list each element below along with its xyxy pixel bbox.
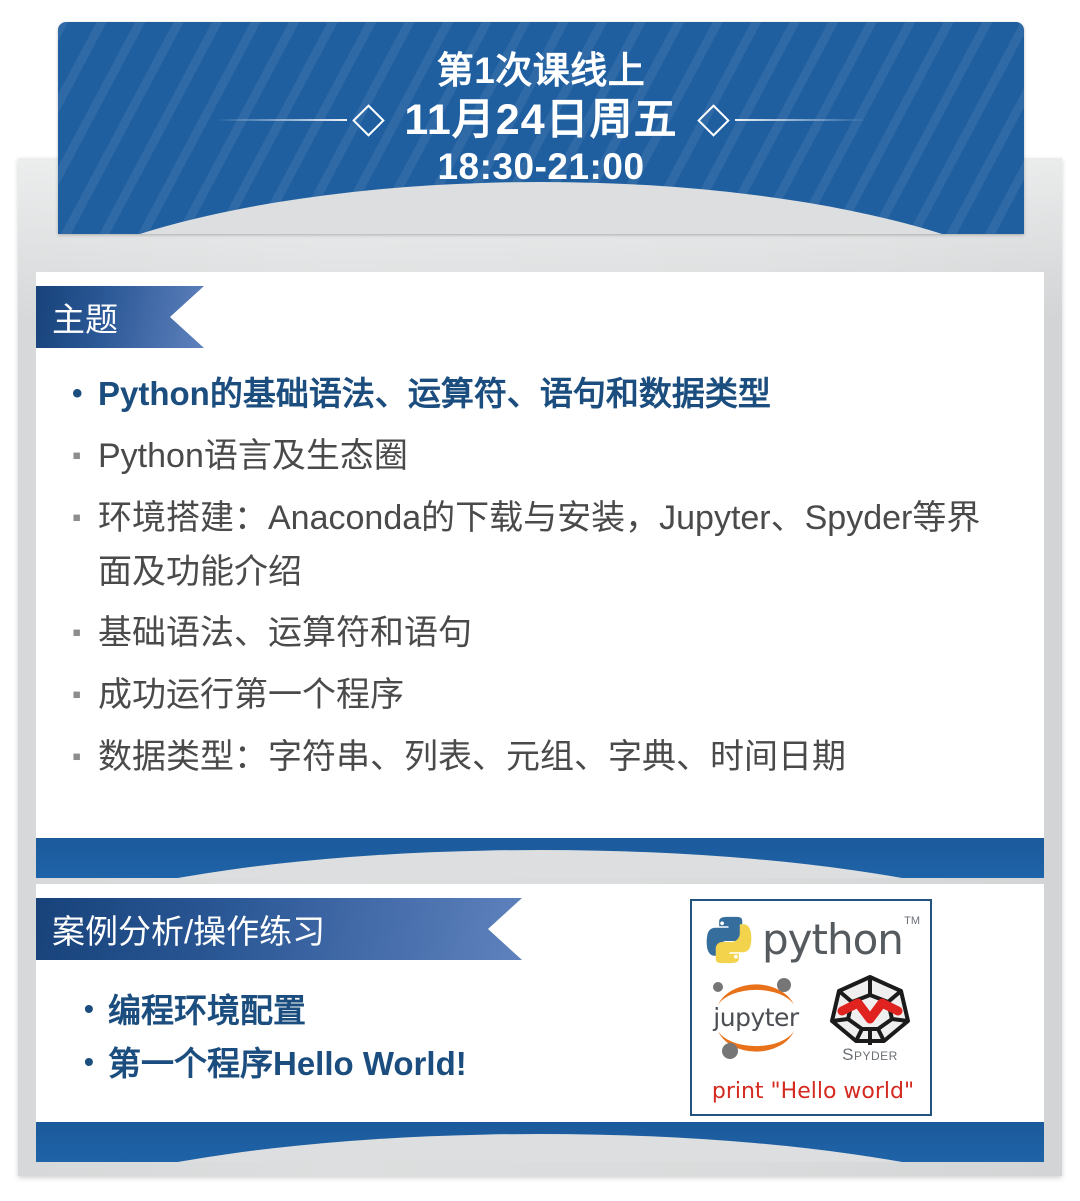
- topic-ribbon: 主题: [36, 286, 204, 348]
- list-item-label: 基础语法、运算符和语句: [98, 607, 1014, 661]
- diamond-icon-left: [353, 104, 386, 137]
- topic-list: • Python的基础语法、运算符、语句和数据类型 ▪ Python语言及生态圈…: [36, 368, 1044, 792]
- list-item-label: Python语言及生态圈: [98, 430, 1014, 484]
- rule-right: [735, 119, 867, 121]
- case-ribbon: 案例分析/操作练习: [36, 898, 522, 960]
- session-time: 18:30-21:00: [58, 146, 1024, 188]
- python-logo-row: python TM: [702, 909, 924, 971]
- bullet-dot-icon: •: [84, 1037, 108, 1087]
- bullet-square-icon: ▪: [72, 669, 98, 720]
- list-item-label: 数据类型：字符串、列表、元组、字典、时间日期: [98, 731, 1014, 785]
- list-item-label: Python的基础语法、运算符、语句和数据类型: [98, 368, 1014, 420]
- list-item: ▪ 环境搭建：Anaconda的下载与安装，Jupyter、Spyder等界面及…: [72, 492, 1014, 599]
- list-item: • Python的基础语法、运算符、语句和数据类型: [72, 368, 1014, 420]
- list-item: ▪ 基础语法、运算符和语句: [72, 607, 1014, 661]
- topic-ribbon-label: 主题: [52, 293, 118, 341]
- footer-bar: [36, 1122, 1044, 1162]
- list-item: • 第一个程序Hello World!: [84, 1037, 676, 1090]
- trademark-icon: TM: [904, 915, 920, 927]
- list-item: ▪ 数据类型：字符串、列表、元组、字典、时间日期: [72, 731, 1014, 785]
- ribbon-chevron-notch: [170, 286, 204, 348]
- bullet-square-icon: ▪: [72, 430, 98, 481]
- section-divider-bar: [36, 838, 1044, 878]
- list-item: ▪ Python语言及生态圈: [72, 430, 1014, 484]
- session-date: 11月24日周五: [390, 97, 691, 144]
- footer-arc-mask: [36, 1134, 1044, 1162]
- list-item: • 编程环境配置: [84, 984, 676, 1037]
- python-wordmark: python: [762, 919, 903, 961]
- bullet-square-icon: ▪: [72, 731, 98, 782]
- bullet-square-icon: ▪: [72, 607, 98, 658]
- rule-left: [215, 119, 347, 121]
- list-item-label: 成功运行第一个程序: [98, 669, 1014, 723]
- spyder-wordmark: Spyder: [818, 1045, 922, 1065]
- list-item: ▪ 成功运行第一个程序: [72, 669, 1014, 723]
- diamond-icon-right: [697, 104, 730, 137]
- jupyter-wordmark: jupyter: [704, 1003, 808, 1032]
- python-logo-icon: [702, 913, 756, 967]
- bullet-square-icon: ▪: [72, 492, 98, 543]
- print-statement-text: print "Hello world": [692, 1079, 934, 1104]
- session-banner: 第1次课线上 11月24日周五 18:30-21:00: [58, 22, 1024, 234]
- ribbon-chevron-notch: [488, 898, 522, 960]
- list-item-label: 环境搭建：Anaconda的下载与安装，Jupyter、Spyder等界面及功能…: [98, 492, 1014, 599]
- list-item-label: 第一个程序Hello World!: [108, 1037, 467, 1090]
- jupyter-logo-icon: jupyter: [704, 975, 808, 1059]
- python-tools-logo-card: python TM jupyter: [690, 899, 932, 1116]
- bullet-dot-icon: •: [84, 984, 108, 1034]
- banner-text-block: 第1次课线上 11月24日周五 18:30-21:00: [58, 22, 1024, 188]
- list-item-label: 编程环境配置: [108, 984, 306, 1037]
- case-ribbon-label: 案例分析/操作练习: [52, 905, 325, 953]
- session-date-row: 11月24日周五: [58, 97, 1024, 144]
- spyder-logo-icon: Spyder: [818, 971, 922, 1065]
- bullet-dot-icon: •: [72, 368, 98, 419]
- divider-arc-mask: [36, 850, 1044, 878]
- case-list: • 编程环境配置 • 第一个程序Hello World!: [36, 984, 676, 1091]
- session-title: 第1次课线上: [58, 50, 1024, 93]
